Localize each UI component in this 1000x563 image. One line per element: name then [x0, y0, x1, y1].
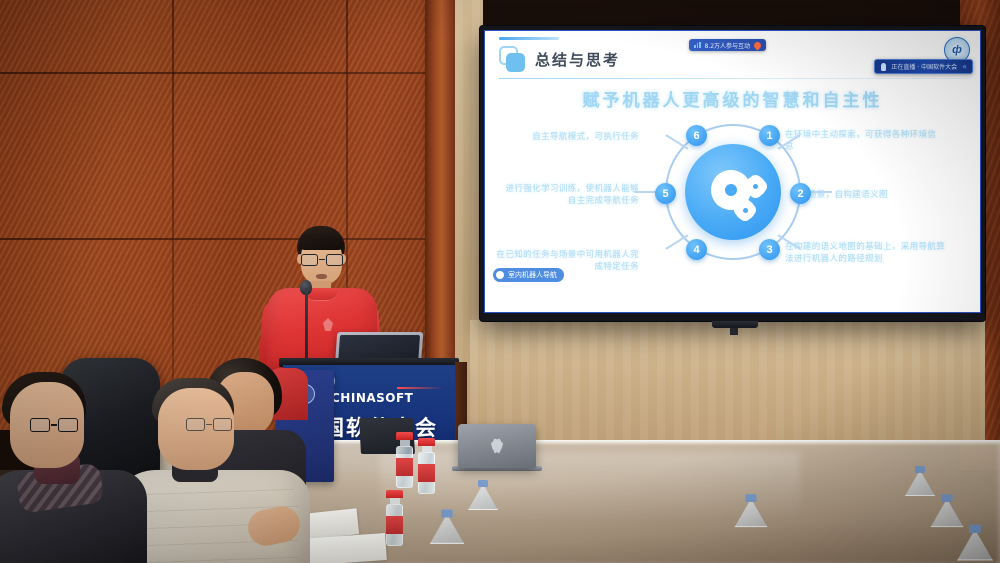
water-bottle [386, 490, 403, 546]
bottle-body [386, 504, 403, 546]
slide-badge-label: 室内机器人导航 [508, 270, 557, 280]
eyeglasses-icon [30, 418, 78, 432]
wall-display: 总结与思考 赋予机器人更高级的智慧和自主性 自主导航模式，可执行任务 进行强化学… [480, 26, 985, 321]
conference-scene: 总结与思考 赋予机器人更高级的智慧和自主性 自主导航模式，可执行任务 进行强化学… [0, 0, 1000, 563]
slide-header-rule [499, 78, 971, 79]
slide-bottom-badge: 室内机器人导航 [493, 268, 564, 282]
speaker-hair-fringe [299, 233, 344, 250]
signal-bars-icon [694, 42, 701, 48]
water-bottle [396, 432, 413, 488]
bottle-body [418, 452, 435, 494]
stream-status-label: 正在直播 · 中国软件大会 [891, 62, 957, 71]
name-card-holder [931, 499, 964, 528]
podium-accent-line [397, 387, 443, 389]
diagram-node-1[interactable]: 1 [759, 125, 780, 146]
wall-beige-lower [470, 320, 985, 445]
bottle-cap [386, 490, 403, 498]
diagram-node-6[interactable]: 6 [686, 125, 707, 146]
display-screen: 总结与思考 赋予机器人更高级的智慧和自主性 自主导航模式，可执行任务 进行强化学… [484, 30, 981, 313]
apple-logo-icon [491, 439, 504, 454]
name-card-tab [478, 480, 488, 487]
name-card-tab [746, 494, 757, 502]
bottle-body [396, 446, 413, 488]
water-bottle [418, 438, 435, 494]
bottle-cap [418, 438, 435, 446]
eyeglasses-icon [300, 254, 344, 266]
slide-caption-5: 进行强化学习训练，使机器人能够自主完成导航任务 [499, 183, 639, 208]
podium-brand-en: CHINASOFT [331, 391, 413, 405]
name-card-tab [915, 466, 925, 473]
name-card-tab [441, 509, 453, 517]
speaker-mouth [316, 274, 327, 279]
bottle-label [418, 464, 435, 482]
display-stand [712, 321, 758, 328]
diagram-connector [777, 134, 800, 149]
viewer-count-badge[interactable]: 8.2万人参与互动 [689, 39, 766, 51]
name-card-holder [957, 529, 993, 560]
name-card-holder [735, 499, 768, 528]
badge-dot-icon [496, 271, 504, 279]
name-card-tab [969, 525, 981, 533]
slide-main-title: 赋予机器人更高级的智慧和自主性 [485, 86, 980, 111]
slide-accent-line [499, 37, 559, 40]
gears-icon [716, 175, 746, 205]
wall-seam [0, 72, 463, 74]
stream-status-bar[interactable]: 正在直播 · 中国软件大会 « [874, 59, 973, 74]
wall-seam [0, 238, 463, 240]
macbook-laptop [458, 424, 536, 468]
process-ring-diagram: 1 2 3 4 5 6 [638, 119, 828, 269]
diagram-node-3[interactable]: 3 [759, 239, 780, 260]
wall-seam [172, 0, 174, 430]
viewer-count-label: 8.2万人参与互动 [705, 41, 751, 50]
diagram-node-2[interactable]: 2 [790, 183, 811, 204]
diagram-connector [777, 234, 800, 249]
name-card-holder [905, 470, 935, 496]
name-card-holder [430, 514, 465, 544]
double-chevron-icon[interactable]: « [962, 62, 966, 71]
slide-caption-6: 自主导航模式，可执行任务 [507, 131, 639, 143]
gear-small-icon [748, 179, 763, 194]
bottle-cap [396, 432, 413, 440]
bottle-label [386, 516, 403, 534]
rounded-square-icon [499, 46, 525, 72]
podium-microphone-stem [305, 288, 308, 366]
diagram-connector [808, 191, 832, 193]
document-paper [299, 533, 387, 563]
gear-small-icon [738, 203, 752, 217]
eyeglasses-icon [186, 418, 232, 431]
flame-icon [753, 40, 763, 50]
bottle-label [396, 458, 413, 476]
slide-section-title: 总结与思考 [535, 49, 620, 70]
name-card-tab [942, 494, 953, 502]
microphone-icon [881, 63, 886, 71]
name-card-holder [468, 484, 498, 510]
slide-section-header: 总结与思考 [499, 46, 620, 72]
diagram-node-5[interactable]: 5 [655, 183, 676, 204]
diagram-node-4[interactable]: 4 [686, 239, 707, 260]
